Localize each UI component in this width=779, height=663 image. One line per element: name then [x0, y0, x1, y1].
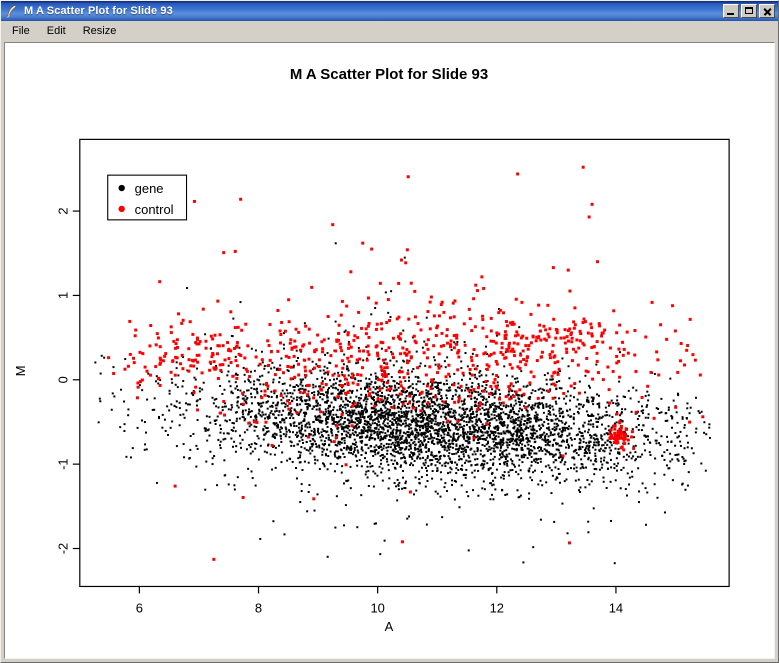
- data-point: [439, 408, 441, 410]
- data-point: [393, 364, 395, 366]
- data-point: [485, 346, 487, 348]
- data-point: [309, 440, 311, 442]
- data-point: [517, 424, 519, 426]
- data-point: [377, 452, 379, 454]
- data-point: [274, 373, 277, 376]
- data-point: [437, 435, 439, 437]
- data-point: [656, 407, 658, 409]
- data-point: [497, 333, 500, 336]
- data-point: [492, 498, 494, 500]
- data-point: [402, 454, 404, 456]
- data-point: [398, 446, 400, 448]
- data-point: [370, 383, 372, 385]
- data-point: [401, 416, 403, 418]
- data-point: [525, 402, 527, 404]
- data-point: [606, 366, 609, 369]
- data-point: [312, 434, 314, 436]
- data-point: [593, 473, 595, 475]
- data-point: [563, 398, 565, 400]
- data-point: [408, 380, 410, 382]
- data-point: [350, 487, 352, 489]
- data-point: [193, 200, 196, 203]
- data-point: [370, 450, 372, 452]
- data-point: [410, 462, 412, 464]
- data-point: [179, 407, 181, 409]
- data-point: [144, 366, 147, 369]
- data-point: [379, 466, 381, 468]
- data-point: [210, 335, 213, 338]
- data-point: [211, 397, 213, 399]
- data-point: [597, 371, 600, 374]
- data-point: [614, 423, 616, 425]
- data-point: [690, 407, 692, 409]
- data-point: [347, 414, 349, 416]
- data-point: [327, 426, 329, 428]
- data-point: [463, 420, 465, 422]
- data-point: [427, 455, 429, 457]
- data-point: [189, 320, 192, 323]
- data-point: [336, 416, 338, 418]
- data-point: [158, 416, 160, 418]
- data-point: [236, 420, 238, 422]
- data-point: [196, 368, 198, 370]
- data-point: [506, 444, 508, 446]
- data-point: [540, 436, 542, 438]
- data-point: [417, 448, 419, 450]
- data-point: [667, 441, 669, 443]
- data-point: [434, 396, 437, 399]
- data-point: [437, 390, 439, 392]
- data-point: [578, 454, 580, 456]
- data-point: [410, 433, 412, 435]
- data-point: [383, 420, 385, 422]
- data-point: [542, 425, 544, 427]
- data-point: [614, 424, 617, 427]
- data-point: [360, 440, 362, 442]
- data-point: [541, 397, 543, 399]
- data-point: [94, 361, 96, 363]
- data-point: [299, 349, 302, 352]
- data-point: [322, 462, 324, 464]
- data-point: [464, 413, 466, 415]
- data-point: [302, 343, 305, 346]
- data-point: [485, 387, 487, 389]
- data-point: [618, 376, 621, 379]
- data-point: [215, 423, 217, 425]
- data-point: [491, 388, 493, 390]
- data-point: [261, 411, 263, 413]
- data-point: [189, 404, 191, 406]
- data-point: [271, 469, 273, 471]
- data-point: [365, 430, 367, 432]
- data-point: [625, 459, 627, 461]
- data-point: [548, 413, 550, 415]
- data-point: [380, 398, 383, 401]
- data-point: [442, 421, 444, 423]
- data-point: [485, 418, 487, 420]
- data-point: [246, 429, 248, 431]
- data-point: [376, 423, 378, 425]
- menu-resize[interactable]: Resize: [78, 23, 125, 39]
- data-point: [384, 424, 386, 426]
- data-point: [241, 392, 244, 395]
- data-point: [480, 464, 482, 466]
- data-point: [427, 338, 430, 341]
- data-point: [550, 432, 552, 434]
- data-point: [183, 443, 185, 445]
- data-point: [461, 484, 463, 486]
- data-point: [134, 329, 137, 332]
- data-point: [504, 432, 506, 434]
- data-point: [304, 415, 306, 417]
- data-point: [519, 401, 521, 403]
- data-point: [609, 415, 611, 417]
- data-point: [287, 365, 290, 368]
- data-point: [484, 413, 486, 415]
- data-point: [285, 426, 287, 428]
- data-point: [330, 451, 332, 453]
- data-point: [531, 437, 533, 439]
- data-point: [607, 468, 609, 470]
- data-point: [356, 336, 359, 339]
- data-point: [262, 414, 264, 416]
- data-point: [470, 398, 472, 400]
- data-point: [327, 556, 329, 558]
- chart-svg: M A Scatter Plot for Slide 93 6810121421…: [5, 43, 774, 658]
- data-point: [360, 413, 362, 415]
- data-point: [161, 427, 163, 429]
- data-point: [443, 433, 445, 435]
- data-point: [455, 334, 458, 337]
- data-point: [652, 428, 654, 430]
- data-point: [223, 459, 225, 461]
- data-point: [279, 341, 282, 344]
- data-point: [306, 510, 308, 512]
- data-point: [443, 439, 445, 441]
- data-point: [220, 428, 222, 430]
- data-point: [622, 354, 625, 357]
- data-point: [231, 406, 233, 408]
- data-point: [617, 462, 619, 464]
- data-point: [445, 334, 448, 337]
- data-point: [448, 408, 450, 410]
- data-point: [275, 447, 277, 449]
- data-point: [357, 449, 359, 451]
- data-point: [482, 438, 484, 440]
- data-point: [410, 410, 412, 412]
- data-point: [326, 422, 328, 424]
- data-point: [315, 443, 317, 445]
- data-point: [170, 371, 173, 374]
- data-point: [306, 393, 309, 396]
- data-point: [358, 358, 361, 361]
- data-point: [409, 392, 411, 394]
- data-point: [355, 396, 357, 398]
- data-point: [478, 427, 480, 429]
- data-point: [535, 420, 537, 422]
- data-point: [236, 401, 238, 403]
- data-point: [243, 367, 245, 369]
- data-point: [331, 374, 334, 377]
- data-point: [565, 351, 568, 354]
- data-point: [268, 430, 270, 432]
- data-point: [394, 385, 396, 387]
- data-point: [573, 413, 575, 415]
- data-point: [243, 356, 246, 359]
- data-point: [460, 447, 462, 449]
- data-point: [389, 420, 391, 422]
- data-point: [579, 487, 581, 489]
- data-point: [297, 363, 300, 366]
- data-point: [460, 434, 462, 436]
- data-point: [511, 469, 513, 471]
- data-point: [373, 392, 375, 394]
- data-point: [287, 369, 289, 371]
- data-point: [317, 394, 319, 396]
- data-point: [387, 346, 390, 349]
- data-point: [642, 409, 644, 411]
- data-point: [551, 350, 554, 353]
- data-point: [415, 421, 417, 423]
- data-point: [472, 411, 474, 413]
- data-point: [585, 467, 587, 469]
- data-point: [386, 443, 388, 445]
- data-point: [352, 429, 354, 431]
- data-point: [513, 422, 515, 424]
- data-point: [496, 419, 498, 421]
- data-point: [494, 456, 496, 458]
- data-point: [274, 389, 277, 392]
- data-point: [515, 438, 517, 440]
- data-point: [519, 354, 522, 357]
- data-point: [299, 411, 301, 413]
- data-point: [403, 376, 406, 379]
- data-point: [380, 431, 382, 433]
- data-point: [383, 366, 386, 369]
- maximize-button[interactable]: [741, 4, 757, 18]
- data-point: [238, 407, 240, 409]
- data-point: [328, 434, 330, 436]
- data-point: [417, 322, 420, 325]
- data-point: [350, 346, 353, 349]
- data-point: [576, 467, 578, 469]
- data-point: [501, 353, 504, 356]
- close-button[interactable]: [759, 4, 775, 18]
- data-point: [549, 407, 551, 409]
- data-point: [646, 406, 648, 408]
- data-point: [677, 422, 679, 424]
- data-point: [458, 506, 460, 508]
- data-point: [503, 365, 505, 367]
- data-point: [389, 385, 391, 387]
- data-point: [510, 417, 512, 419]
- data-point: [577, 411, 579, 413]
- data-point: [495, 360, 498, 363]
- data-point: [399, 415, 401, 417]
- data-point: [430, 454, 432, 456]
- data-point: [570, 415, 572, 417]
- data-point: [476, 408, 479, 411]
- data-point: [413, 335, 416, 338]
- data-point: [638, 415, 640, 417]
- data-point: [343, 354, 345, 356]
- data-point: [219, 369, 222, 372]
- data-point: [570, 395, 572, 397]
- data-point: [425, 443, 427, 445]
- data-point: [276, 309, 279, 312]
- data-point: [395, 429, 397, 431]
- data-point: [465, 460, 467, 462]
- data-point: [517, 381, 519, 383]
- data-point: [382, 383, 384, 385]
- data-point: [429, 417, 431, 419]
- data-point: [571, 444, 573, 446]
- data-point: [440, 303, 443, 306]
- data-point: [229, 419, 231, 421]
- data-point: [522, 414, 524, 416]
- data-point: [233, 441, 235, 443]
- data-point: [315, 385, 317, 387]
- data-point: [515, 471, 517, 473]
- data-point: [335, 444, 337, 446]
- data-point: [279, 333, 282, 336]
- data-point: [216, 352, 219, 355]
- data-point: [463, 416, 465, 418]
- data-point: [471, 472, 473, 474]
- data-point: [502, 311, 505, 314]
- data-point: [199, 398, 201, 400]
- data-point: [475, 416, 477, 418]
- data-point: [549, 356, 552, 359]
- data-point: [227, 357, 230, 360]
- data-point: [383, 429, 385, 431]
- data-point: [384, 407, 386, 409]
- data-point: [506, 454, 508, 456]
- data-point: [233, 484, 235, 486]
- data-point: [365, 452, 367, 454]
- data-point: [269, 406, 271, 408]
- data-point: [408, 386, 410, 388]
- data-point: [252, 477, 254, 479]
- data-point: [584, 452, 586, 454]
- data-point: [489, 436, 491, 438]
- data-point: [350, 355, 353, 358]
- data-point: [251, 396, 253, 398]
- data-point: [512, 443, 514, 445]
- menu-file[interactable]: File: [7, 23, 38, 39]
- data-point: [627, 472, 629, 474]
- data-point: [282, 397, 284, 399]
- data-point: [423, 396, 425, 398]
- data-point: [421, 476, 423, 478]
- data-point: [301, 425, 303, 427]
- data-point: [431, 422, 433, 424]
- data-point: [441, 516, 443, 518]
- data-point: [586, 479, 588, 481]
- data-point: [395, 485, 397, 487]
- data-point: [346, 365, 348, 367]
- data-point: [462, 404, 464, 406]
- data-point: [553, 454, 555, 456]
- data-point: [270, 391, 272, 393]
- data-point: [474, 426, 476, 428]
- data-point: [374, 438, 376, 440]
- data-point: [455, 389, 457, 391]
- data-point: [427, 457, 429, 459]
- data-point: [448, 449, 450, 451]
- data-point: [620, 446, 623, 449]
- data-point: [456, 368, 459, 371]
- minimize-button[interactable]: [723, 4, 739, 18]
- data-point: [522, 358, 525, 361]
- data-point: [309, 423, 311, 425]
- data-point: [561, 422, 563, 424]
- data-point: [482, 434, 484, 436]
- data-point: [412, 420, 414, 422]
- data-point: [285, 435, 287, 437]
- data-point: [432, 344, 435, 347]
- data-point: [447, 424, 449, 426]
- data-point: [513, 464, 515, 466]
- data-point: [398, 485, 400, 487]
- data-point: [455, 472, 457, 474]
- data-point: [337, 389, 339, 391]
- data-point: [556, 426, 558, 428]
- data-point: [259, 376, 261, 378]
- data-point: [408, 431, 410, 433]
- data-point: [550, 383, 552, 385]
- data-point: [337, 372, 339, 374]
- data-point: [380, 368, 383, 371]
- data-point: [280, 394, 283, 397]
- data-point: [536, 459, 538, 461]
- data-point: [417, 376, 419, 378]
- data-point: [270, 368, 272, 370]
- data-point: [630, 397, 632, 399]
- data-point: [487, 431, 489, 433]
- data-point: [567, 390, 569, 392]
- data-point: [562, 427, 564, 429]
- data-point: [602, 477, 604, 479]
- data-point: [435, 381, 437, 383]
- data-point: [553, 371, 556, 374]
- data-point: [322, 411, 324, 413]
- data-point: [308, 484, 310, 486]
- data-point: [558, 449, 560, 451]
- data-point: [427, 348, 430, 351]
- data-point: [297, 373, 300, 376]
- data-point: [387, 298, 390, 301]
- data-point: [671, 427, 673, 429]
- data-point: [505, 449, 507, 451]
- data-point: [449, 412, 451, 414]
- data-point: [413, 453, 415, 455]
- data-point: [347, 391, 350, 394]
- data-point: [293, 346, 296, 349]
- data-point: [235, 451, 237, 453]
- data-point: [494, 411, 496, 413]
- data-point: [459, 407, 461, 409]
- data-point: [456, 341, 458, 343]
- data-point: [542, 325, 545, 328]
- data-point: [665, 420, 667, 422]
- data-point: [508, 342, 511, 345]
- data-point: [493, 448, 495, 450]
- data-point: [518, 326, 520, 328]
- menu-edit[interactable]: Edit: [42, 23, 74, 39]
- data-point: [593, 397, 595, 399]
- data-point: [566, 335, 569, 338]
